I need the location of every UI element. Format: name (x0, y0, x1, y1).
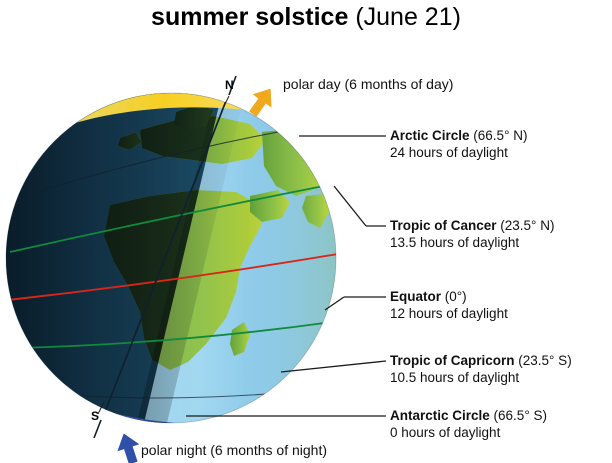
label-arctic-circle-title: Arctic Circle (390, 128, 470, 143)
label-arctic-circle: Arctic Circle (66.5° N) 24 hours of dayl… (390, 127, 527, 161)
label-tropic-of-capricorn-title: Tropic of Capricorn (390, 353, 515, 368)
label-tropic-of-cancer-coord: (23.5° N) (497, 218, 555, 233)
north-pole-label: N (225, 78, 234, 92)
polar-night-annotation: polar night (6 months of night) (141, 442, 327, 458)
label-equator: Equator (0°) 12 hours of daylight (390, 288, 508, 322)
label-tropic-of-cancer-title: Tropic of Cancer (390, 218, 497, 233)
leader-tropic-of-cancer-diagonal (334, 186, 366, 226)
globe-sphere (0, 80, 380, 440)
label-antarctic-circle: Antarctic Circle (66.5° S) 0 hours of da… (390, 407, 547, 441)
label-antarctic-circle-title: Antarctic Circle (390, 408, 490, 423)
south-pole-label: S (91, 409, 99, 423)
label-tropic-of-cancer: Tropic of Cancer (23.5° N) 13.5 hours of… (390, 217, 554, 251)
label-arctic-circle-detail: 24 hours of daylight (390, 144, 527, 161)
label-equator-coord: (0°) (441, 289, 467, 304)
diagram-canvas: summer solstice (June 21) (0, 0, 612, 463)
polar-night-arrow (113, 430, 144, 463)
label-equator-detail: 12 hours of daylight (390, 305, 508, 322)
label-equator-title: Equator (390, 289, 441, 304)
label-antarctic-circle-coord: (66.5° S) (490, 408, 547, 423)
label-tropic-of-capricorn-coord: (23.5° S) (515, 353, 572, 368)
label-tropic-of-capricorn-detail: 10.5 hours of daylight (390, 369, 572, 386)
label-antarctic-circle-detail: 0 hours of daylight (390, 424, 547, 441)
label-tropic-of-capricorn: Tropic of Capricorn (23.5° S) 10.5 hours… (390, 352, 572, 386)
polar-day-annotation: polar day (6 months of day) (283, 76, 453, 92)
label-tropic-of-cancer-detail: 13.5 hours of daylight (390, 234, 554, 251)
label-arctic-circle-coord: (66.5° N) (470, 128, 528, 143)
